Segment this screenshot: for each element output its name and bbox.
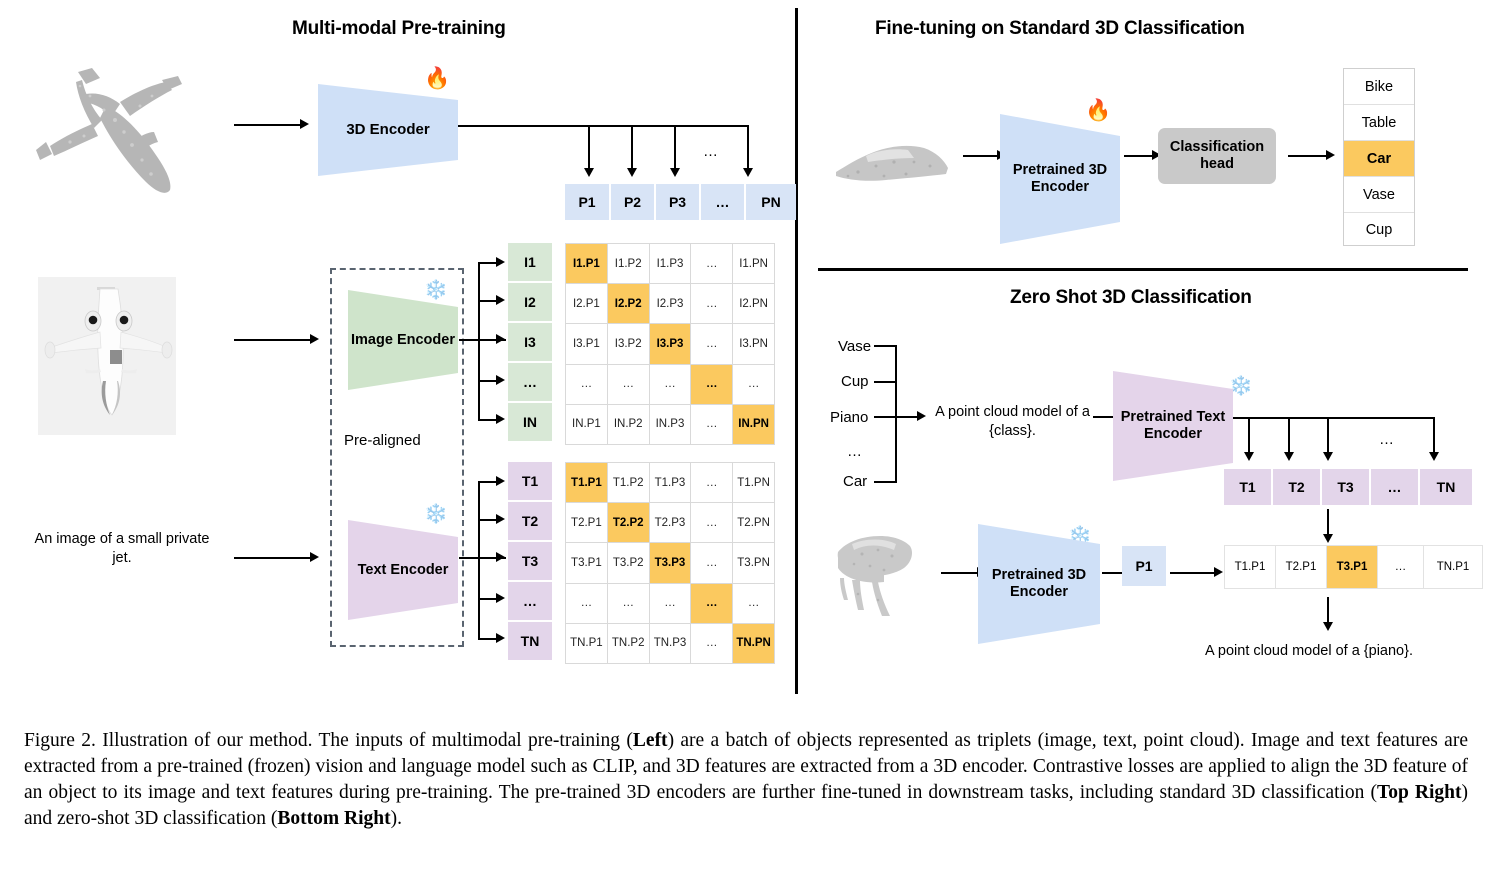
score-cell[interactable]: TN.P1 [1424,546,1482,588]
zeroshot-point-token[interactable]: P1 [1122,546,1166,586]
arrow-car-to-pretrained-encoder [963,155,999,157]
matrix-cell[interactable]: … [650,584,691,623]
zeroshot-text-token-cell[interactable]: TN [1420,469,1472,505]
matrix-cell[interactable]: … [608,365,649,404]
classification-head-label: Classification head [1165,139,1269,174]
bracket-tick-vase [874,345,896,347]
matrix-cell[interactable]: T3.P3 [650,543,691,582]
point-token-cell[interactable]: P3 [656,184,699,220]
text-point-similarity-matrix: T1.P1 T1.P2 T1.P3 … T1.PN T2.P1 T2.P2 T2… [565,462,775,664]
class-list-item-selected[interactable]: Car [1344,141,1414,177]
image-token-cell[interactable]: … [508,363,552,401]
arrowhead-t3 [496,552,505,562]
car-point-cloud-icon [828,132,953,192]
zeroshot-text-token-strip: T1 T2 T3 … TN [1224,469,1472,505]
finetune-class-list: Bike Table Car Vase Cup [1343,68,1415,246]
matrix-cell[interactable]: … [691,463,732,502]
arrowhead-t1 [496,476,505,486]
bracket-tick-car [874,481,896,483]
arrowhead-in [496,414,505,424]
zeroshot-3d-encoder-block[interactable]: Pretrained 3D Encoder [978,524,1100,644]
matrix-cell[interactable]: … [566,584,607,623]
image-token-column: I1 I2 I3 … IN [508,243,552,441]
matrix-cell[interactable]: I1.P1 [566,244,607,283]
arrowhead-i1 [496,257,505,267]
arrowhead-pn [743,168,753,177]
caption-bold-top-right: Top Right [1377,782,1461,803]
branch-i2 [478,300,498,302]
matrix-cell[interactable]: T3.P1 [566,543,607,582]
arrowhead-i4 [496,375,505,385]
matrix-cell[interactable]: … [691,503,732,542]
zeroshot-text-token-cell[interactable]: … [1371,469,1418,505]
matrix-cell[interactable]: T1.P1 [566,463,607,502]
branch-zs-t3 [1327,417,1329,455]
bus-zeroshot-text-tokens [1232,417,1435,419]
arrowhead-score-to-result [1323,622,1333,631]
matrix-cell[interactable]: IN.P3 [650,405,691,444]
branch-in [478,419,498,421]
matrix-cell[interactable]: … [691,244,732,283]
matrix-cell[interactable]: I1.P2 [608,244,649,283]
class-list-item[interactable]: Vase [1344,177,1414,213]
matrix-cell[interactable]: IN.P2 [608,405,649,444]
finetune-encoder-label: Pretrained 3D Encoder [1008,162,1112,195]
matrix-cell[interactable]: … [691,284,732,323]
text-token-cell[interactable]: T2 [508,502,552,540]
class-list-item[interactable]: Cup [1344,213,1414,247]
arrowhead-bracket-to-prompt [917,411,926,421]
branch-t2 [478,519,498,521]
arrow-image-to-image-encoder [234,339,312,341]
matrix-cell[interactable]: … [733,365,774,404]
text-token-cell[interactable]: T3 [508,542,552,580]
branch-p1 [588,125,590,171]
image-point-similarity-matrix: I1.P1 I1.P2 I1.P3 … I1.PN I2.P1 I2.P2 I2… [565,243,775,445]
zeroshot-score-strip: T1.P1 T2.P1 T3.P1 … TN.P1 [1224,545,1483,589]
matrix-cell[interactable]: T3.P2 [608,543,649,582]
branch-ellipsis-label: … [703,143,718,160]
arrowhead-zs-tn [1429,452,1439,461]
arrowhead-zs-t2 [1284,452,1294,461]
arrow-p1-to-scores [1170,572,1216,574]
encoder-text-label: Text Encoder [358,562,449,579]
branch-t1 [478,481,498,483]
matrix-cell[interactable]: I1.P3 [650,244,691,283]
point-token-strip-cells: P1 P2 P3 … PN [565,184,796,220]
branch-i4 [478,380,498,382]
panel-title-pretraining: Multi-modal Pre-training [292,18,506,40]
encoder-3d-label: 3D Encoder [346,121,429,138]
branch-p2 [631,125,633,171]
bus-text-encoder-vertical [478,481,480,638]
matrix-cell[interactable]: T1.PN [733,463,774,502]
finetune-encoder-block[interactable]: Pretrained 3D Encoder [1000,114,1120,244]
encoder-image-label: Image Encoder [351,332,455,349]
score-cell[interactable]: T1.P1 [1225,546,1275,588]
arrowhead-zs-t3 [1323,452,1333,461]
zeroshot-candidate-class-ellipsis: … [847,443,862,460]
encoder-image-block[interactable]: Image Encoder [348,290,458,390]
bus-3d-encoder-to-point-tokens [452,125,749,127]
zeroshot-result-text: A point cloud model of a {piano}. [1205,643,1413,659]
arrow-encoder-to-head [1124,155,1154,157]
matrix-cell[interactable]: … [691,365,732,404]
branch-zs-t1 [1248,417,1250,455]
arrowhead-t2 [496,514,505,524]
matrix-cell[interactable]: T2.P3 [650,503,691,542]
airplane-render-thumbnail [38,277,176,435]
matrix-cell[interactable]: I2.P2 [608,284,649,323]
zeroshot-class-bracket [895,345,897,483]
matrix-cell[interactable]: I3.P2 [608,324,649,363]
arrow-bracket-to-prompt [897,416,919,418]
matrix-cell[interactable]: IN.P1 [566,405,607,444]
panel-title-finetuning: Fine-tuning on Standard 3D Classificatio… [875,18,1245,40]
matrix-cell[interactable]: I2.P1 [566,284,607,323]
zeroshot-text-encoder-block[interactable]: Pretrained Text Encoder [1113,371,1233,481]
arrowhead-p2 [627,168,637,177]
matrix-cell[interactable]: … [566,365,607,404]
arrow-text-to-text-encoder [234,557,312,559]
arrowhead-text-to-text-encoder [310,552,319,562]
arrowhead-p1 [584,168,594,177]
bracket-tick-piano [874,416,896,418]
arrowhead-head-to-classes [1326,150,1335,160]
zeroshot-text-encoder-label: Pretrained Text Encoder [1120,409,1226,442]
text-token-cell[interactable]: T1 [508,462,552,500]
matrix-cell[interactable]: … [691,624,732,663]
matrix-cell[interactable]: T1.P2 [608,463,649,502]
panel-vertical-divider [795,8,798,694]
panel-horizontal-divider [818,268,1468,271]
caption-part-4: ). [391,808,402,829]
matrix-cell[interactable]: I3.P3 [650,324,691,363]
matrix-cell[interactable]: TN.P1 [566,624,607,663]
arrowhead-pointcloud-to-3d-encoder [300,119,309,129]
class-list-item[interactable]: Bike [1344,69,1414,105]
matrix-cell[interactable]: … [691,324,732,363]
matrix-cell[interactable]: I2.P3 [650,284,691,323]
matrix-cell[interactable]: IN.PN [733,405,774,444]
zeroshot-branch-ellipsis: … [1379,431,1394,448]
branch-tn [478,638,498,640]
bracket-tick-cup [874,381,896,383]
matrix-cell[interactable]: I3.PN [733,324,774,363]
piano-point-cloud-icon [832,524,932,620]
matrix-cell[interactable]: … [691,543,732,582]
class-list-item[interactable]: Table [1344,105,1414,141]
matrix-cell[interactable]: T2.P2 [608,503,649,542]
arrow-texttoken-to-score [1327,509,1329,537]
matrix-cell[interactable]: I2.PN [733,284,774,323]
bus-image-encoder-vertical [478,262,480,419]
point-token-cell[interactable]: PN [746,184,796,220]
caption-bold-bottom-right: Bottom Right [277,808,390,829]
branch-zs-t2 [1288,417,1290,455]
image-token-cell[interactable]: IN [508,403,552,441]
matrix-cell[interactable]: … [608,584,649,623]
zeroshot-candidate-class[interactable]: Cup [841,373,869,390]
figure-caption: Figure 2. Illustration of our method. Th… [24,728,1468,832]
score-cell-selected[interactable]: T3.P1 [1327,546,1377,588]
matrix-cell[interactable]: T1.P3 [650,463,691,502]
branch-i1 [478,262,498,264]
matrix-cell[interactable]: T3.PN [733,543,774,582]
zeroshot-3d-encoder-label: Pretrained 3D Encoder [985,567,1093,600]
arrowhead-p1-to-scores [1214,567,1223,577]
arrowhead-tn [496,633,505,643]
encoder-3d-block[interactable]: 3D Encoder [318,84,458,176]
branch-t4 [478,598,498,600]
text-token-cell[interactable]: … [508,582,552,620]
score-cell[interactable]: T2.P1 [1276,546,1326,588]
arrow-score-to-result [1327,597,1329,625]
prealigned-label: Pre-aligned [344,432,421,449]
image-token-cell[interactable]: I2 [508,283,552,321]
matrix-cell[interactable]: … [691,405,732,444]
score-cell[interactable]: … [1378,546,1423,588]
zeroshot-text-token-cell[interactable]: T3 [1322,469,1369,505]
caption-part-1: Figure 2. Illustration of our method. Th… [24,730,633,751]
airplane-render-svg [38,277,176,435]
branch-zs-tn [1433,417,1435,455]
arrow-piano-to-encoder [941,572,979,574]
matrix-cell[interactable]: TN.PN [733,624,774,663]
point-token-cell[interactable]: P2 [611,184,654,220]
point-token-cell[interactable]: … [701,184,744,220]
branch-p3 [674,125,676,171]
matrix-cell[interactable]: … [733,584,774,623]
image-token-cell[interactable]: I1 [508,243,552,281]
matrix-cell[interactable]: TN.P2 [608,624,649,663]
matrix-cell[interactable]: T2.PN [733,503,774,542]
text-token-cell[interactable]: TN [508,622,552,660]
arrow-pointcloud-to-3d-encoder [234,124,302,126]
zeroshot-candidate-class[interactable]: Piano [830,409,868,426]
text-token-column: T1 T2 T3 … TN [508,462,552,660]
zeroshot-prompt-template: A point cloud model of a {class}. [930,403,1095,441]
panel-title-zeroshot: Zero Shot 3D Classification [1010,287,1252,309]
arrow-head-to-classes [1288,155,1328,157]
arrowhead-texttoken-to-score [1323,534,1333,543]
arrowhead-p3 [670,168,680,177]
arrowhead-i2 [496,295,505,305]
image-token-cell[interactable]: I3 [508,323,552,361]
matrix-cell[interactable]: TN.P3 [650,624,691,663]
zeroshot-candidate-class[interactable]: Car [843,473,867,490]
arrowhead-t4 [496,593,505,603]
classification-head-block[interactable]: Classification head [1158,128,1276,184]
matrix-cell[interactable]: I3.P1 [566,324,607,363]
arrowhead-zs-t1 [1244,452,1254,461]
zeroshot-candidate-class[interactable]: Vase [838,338,871,355]
matrix-cell[interactable]: … [691,584,732,623]
caption-bold-left: Left [633,730,668,751]
arrowhead-i3 [496,334,505,344]
matrix-cell[interactable]: T2.P1 [566,503,607,542]
arrowhead-image-to-image-encoder [310,334,319,344]
airplane-point-cloud-icon [20,50,210,230]
matrix-cell[interactable]: I1.PN [733,244,774,283]
branch-pn [747,125,749,171]
zeroshot-text-token-cell[interactable]: T2 [1273,469,1320,505]
matrix-cell[interactable]: … [650,365,691,404]
input-text-prompt: An image of a small private jet. [32,530,212,568]
point-token-cell[interactable]: P1 [565,184,609,220]
encoder-text-block[interactable]: Text Encoder [348,520,458,620]
